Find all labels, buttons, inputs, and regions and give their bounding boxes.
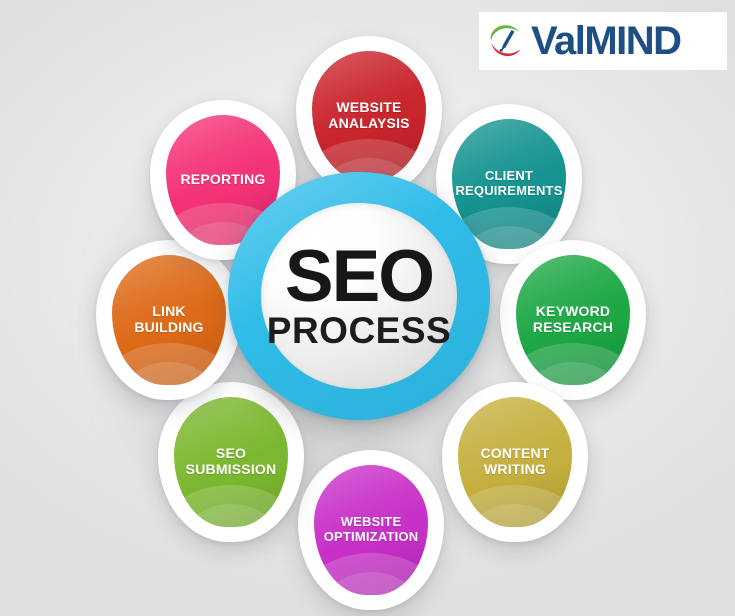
node-website-optimization[interactable]: WEBSITE OPTIMIZATION bbox=[298, 450, 444, 610]
node-label-line2: REQUIREMENTS bbox=[455, 184, 562, 199]
node-pin: KEYWORD RESEARCH bbox=[516, 255, 630, 385]
valmind-logo-text: ValMIND bbox=[531, 21, 681, 61]
node-pin: WEBSITE OPTIMIZATION bbox=[314, 465, 428, 595]
node-link-building[interactable]: LINK BUILDING bbox=[96, 240, 242, 400]
node-label-line2: ANALAYSIS bbox=[328, 116, 409, 132]
node-label-line2: BUILDING bbox=[134, 320, 203, 336]
node-label-line1: REPORTING bbox=[180, 171, 265, 187]
node-label: CLIENT REQUIREMENTS bbox=[452, 169, 566, 199]
node-label: WEBSITE ANALAYSIS bbox=[322, 100, 415, 132]
node-label-line2: OPTIMIZATION bbox=[324, 530, 419, 545]
node-label-line1: KEYWORD bbox=[536, 303, 611, 319]
node-label-line1: CLIENT bbox=[485, 168, 533, 183]
valmind-logo[interactable]: ValMIND bbox=[479, 12, 727, 70]
node-label-line2: SUBMISSION bbox=[186, 462, 277, 478]
node-label-line1: CONTENT bbox=[480, 445, 549, 461]
node-label-line1: WEBSITE bbox=[336, 99, 401, 115]
node-label-line1: WEBSITE bbox=[341, 514, 402, 529]
node-label: SEO SUBMISSION bbox=[180, 446, 283, 478]
hub-title-sub: PROCESS bbox=[267, 312, 451, 349]
node-label: CONTENT WRITING bbox=[474, 446, 555, 478]
hub-inner: SEO PROCESS bbox=[261, 203, 457, 389]
node-label-line1: LINK bbox=[152, 303, 185, 319]
node-label: REPORTING bbox=[174, 172, 271, 188]
node-pin: WEBSITE ANALAYSIS bbox=[312, 51, 426, 181]
seo-process-diagram: ValMIND WEBSITE ANALAYSIS CLIENT REQUIRE… bbox=[0, 0, 735, 616]
node-label: KEYWORD RESEARCH bbox=[527, 304, 619, 336]
hub-title-main: SEO bbox=[285, 243, 433, 311]
node-keyword-research[interactable]: KEYWORD RESEARCH bbox=[500, 240, 646, 400]
node-pin: LINK BUILDING bbox=[112, 255, 226, 385]
node-label: WEBSITE OPTIMIZATION bbox=[318, 515, 425, 545]
node-label-line2: WRITING bbox=[480, 462, 549, 478]
node-label-line2: RESEARCH bbox=[533, 320, 613, 336]
valmind-swirl-icon bbox=[485, 19, 529, 63]
node-label: LINK BUILDING bbox=[128, 304, 209, 336]
seo-process-hub[interactable]: SEO PROCESS bbox=[228, 172, 490, 420]
node-label-line1: SEO bbox=[216, 445, 246, 461]
